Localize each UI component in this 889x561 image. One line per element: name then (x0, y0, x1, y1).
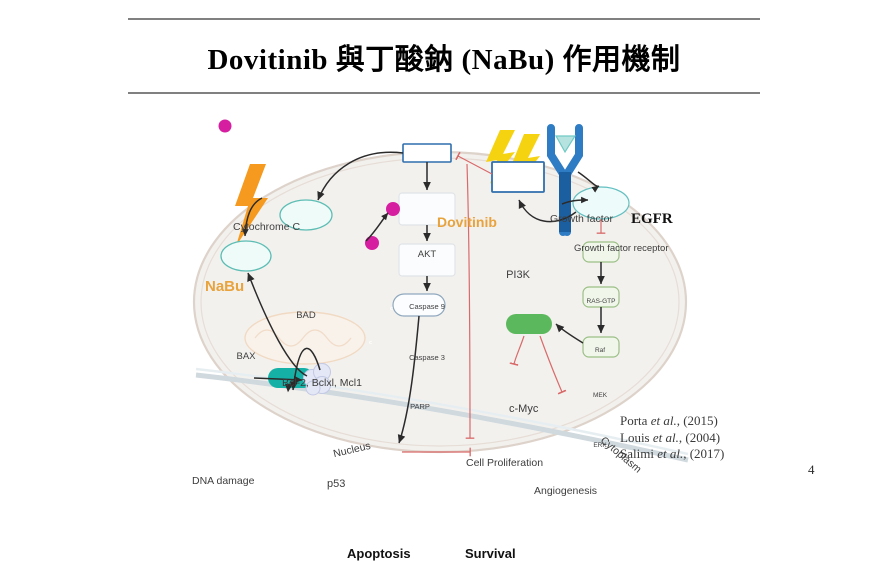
pathway-diagram: c c c Cytochrome C NaBu Dovitinib Growth… (0, 100, 889, 500)
citation-author: Louis (620, 430, 650, 445)
citation-etal: et al. (653, 430, 679, 445)
citation-item: Porta et al., (2015) (620, 413, 724, 430)
label-p53: p53 (327, 478, 345, 490)
citation-item: Louis et al., (2004) (620, 430, 724, 447)
label-growth-factor-receptor: Growth factor receptor (574, 243, 669, 254)
node-pi3k (492, 162, 544, 192)
citation-author: Salimi (620, 446, 654, 461)
node-erk (583, 337, 619, 357)
label-angiogenesis: Angiogenesis (534, 485, 597, 497)
citation-etal: et al. (651, 413, 677, 428)
label-c-myc: c-Myc (509, 403, 538, 415)
citation-author: Porta (620, 413, 647, 428)
page-number: 4 (808, 462, 815, 478)
label-bcl2-group: Bcl-2, Bclxl, Mcl1 (282, 377, 362, 389)
citation-year: (2004) (685, 430, 720, 445)
title-rule-top (128, 18, 760, 20)
node-caspase3 (399, 244, 455, 276)
label-survival: Survival (465, 546, 516, 561)
citation-etal: et al. (657, 446, 683, 461)
slide-canvas: Dovitinib 與丁酸鈉 (NaBu) 作用機制 (0, 0, 889, 500)
cytochrome-c-glyph-1: c (390, 306, 393, 312)
cytochrome-c-glyph-2: c (369, 340, 372, 346)
node-parp (393, 294, 445, 316)
legend-label-cytochrome-c: Cytochrome C (233, 221, 300, 233)
mitochondrion-shape (245, 312, 365, 364)
cytochrome-c-legend-glyph: c (222, 223, 225, 229)
drug-label-nabu: NaBu (205, 278, 244, 295)
label-apoptosis: Apoptosis (347, 546, 411, 561)
page-title: Dovitinib 與丁酸鈉 (NaBu) 作用機制 (128, 36, 760, 78)
citation-item: Salimi et al., (2017) (620, 446, 724, 463)
citation-year: (2017) (690, 446, 725, 461)
title-rule-bottom (128, 92, 760, 94)
node-c-myc (506, 314, 552, 334)
node-mek (583, 287, 619, 307)
node-bax (221, 241, 271, 271)
label-egfr: EGFR (631, 211, 673, 228)
node-akt (403, 144, 451, 162)
citation-year: (2015) (683, 413, 718, 428)
citation-list: Porta et al., (2015) Louis et al., (2004… (620, 413, 724, 463)
label-cell-proliferation: Cell Proliferation (466, 457, 543, 469)
label-dna-damage: DNA damage (192, 475, 254, 487)
label-growth-factor: Growth factor (550, 213, 613, 225)
drug-label-dovitinib: Dovitinib (437, 214, 497, 230)
cytochrome-c-legend-dot (219, 120, 232, 133)
cytochrome-c-dot-2 (365, 236, 379, 250)
